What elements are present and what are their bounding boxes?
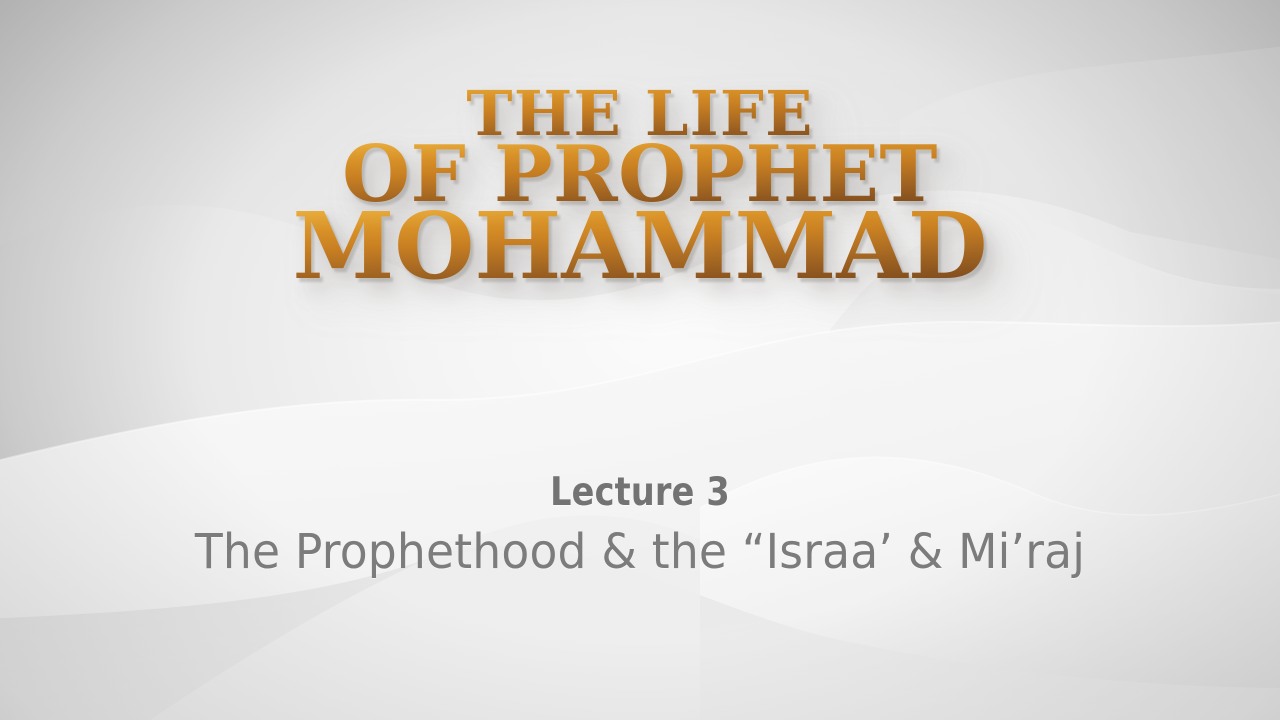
title-slide: THE LIFE OF PROPHET MOHAMMAD Lecture 3 T… — [0, 0, 1280, 720]
lecture-topic: The Prophethood & the “Israa’ & Mi’raj — [32, 524, 1248, 580]
lecture-number: Lecture 3 — [90, 470, 1191, 515]
series-logo: THE LIFE OF PROPHET MOHAMMAD — [0, 84, 1280, 291]
series-logo-line-3: MOHAMMAD — [0, 202, 1280, 290]
lecture-subtitle: Lecture 3 The Prophethood & the “Israa’ … — [0, 470, 1280, 580]
